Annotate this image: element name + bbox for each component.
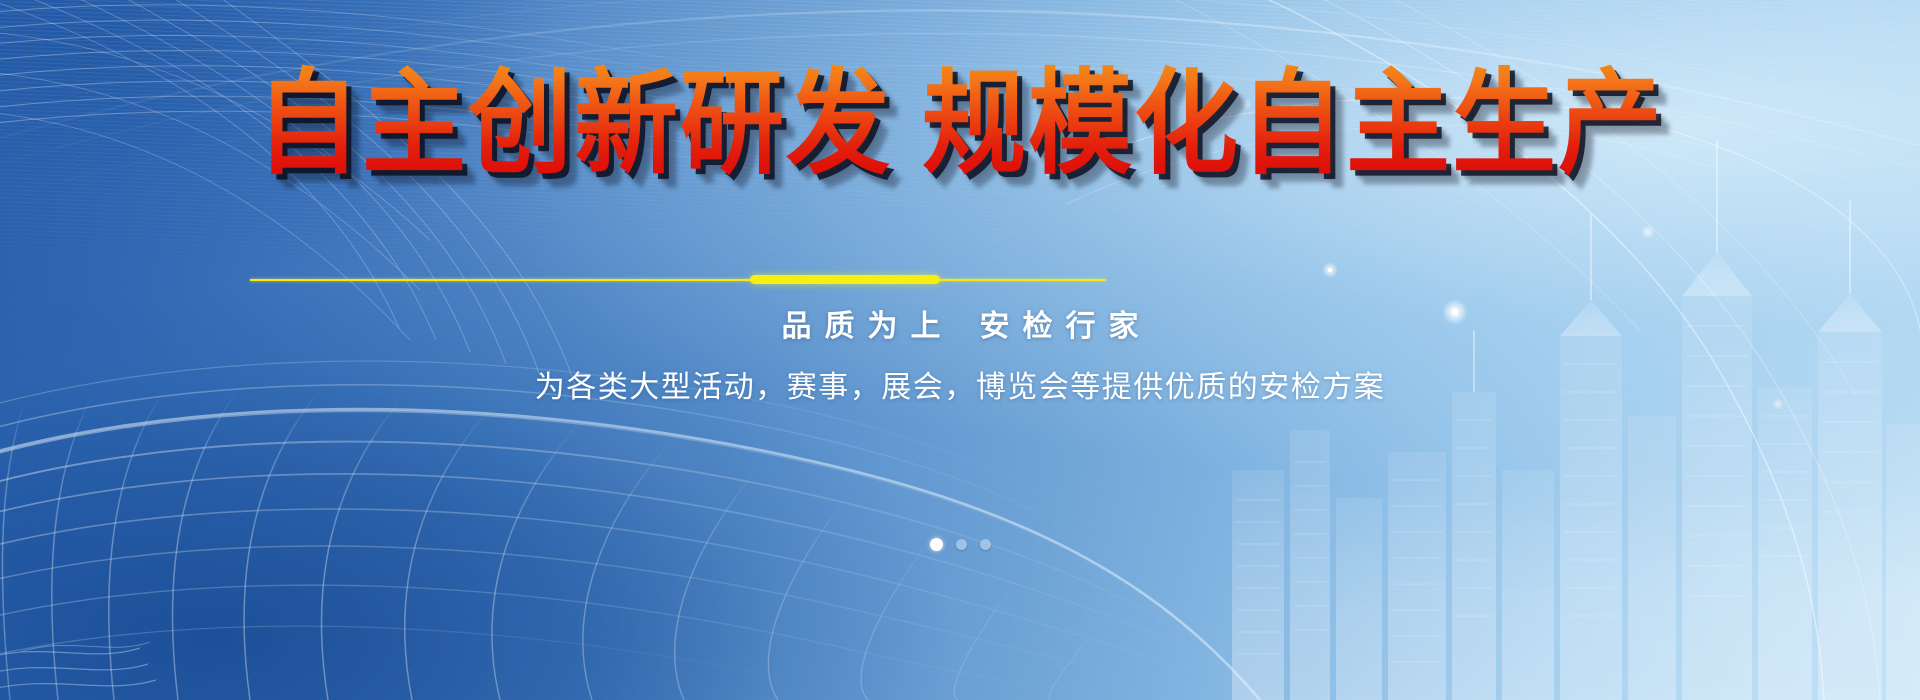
carousel-dot-3[interactable] [980, 539, 991, 550]
carousel-dot-1[interactable] [930, 538, 943, 551]
divider-thin-line [250, 279, 1106, 281]
header-swoosh-lines [0, 0, 1920, 210]
divider [0, 274, 1920, 286]
carousel-indicators[interactable] [0, 538, 1920, 551]
mesh-ridge-highlight [0, 409, 1260, 700]
perspective-wire-mesh [0, 361, 1312, 700]
upper-left-wire-fan [0, 0, 576, 388]
city-antenna-masts [1474, 140, 1850, 392]
carousel-dot-2[interactable] [956, 539, 967, 550]
hero-banner: 自主创新研发规模化自主生产 品质为上安检行家 为各类大型活动，赛事，展会，博览会… [0, 0, 1920, 700]
background-decoration-layer [0, 0, 1920, 700]
divider-accent-bar [750, 275, 940, 284]
